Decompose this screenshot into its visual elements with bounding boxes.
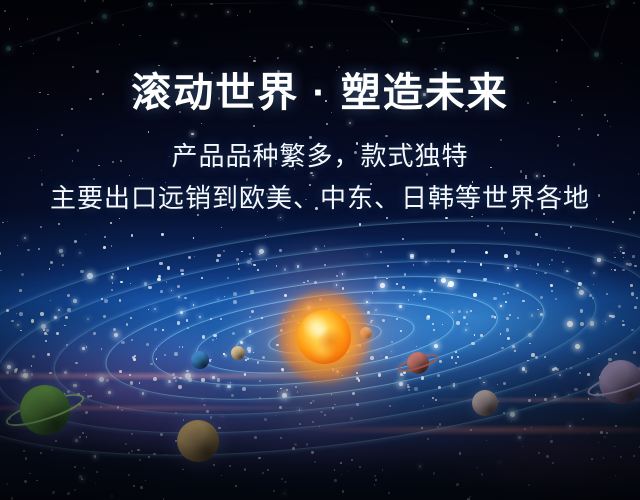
star bbox=[183, 419, 184, 420]
star bbox=[64, 325, 66, 327]
star bbox=[441, 48, 442, 49]
star bbox=[419, 290, 421, 292]
star bbox=[579, 372, 581, 374]
star bbox=[494, 317, 496, 319]
star bbox=[540, 313, 544, 317]
star bbox=[50, 300, 51, 301]
star bbox=[634, 390, 635, 391]
star bbox=[112, 273, 114, 275]
star bbox=[178, 296, 180, 298]
star bbox=[604, 436, 606, 438]
star bbox=[111, 289, 113, 291]
star bbox=[21, 374, 25, 378]
star bbox=[596, 393, 599, 396]
star bbox=[507, 337, 510, 340]
constellation-node bbox=[148, 2, 153, 7]
star bbox=[487, 225, 488, 226]
star bbox=[423, 405, 425, 407]
star bbox=[374, 484, 376, 486]
star bbox=[217, 254, 221, 258]
star bbox=[43, 389, 46, 392]
star bbox=[159, 262, 163, 266]
star bbox=[544, 272, 547, 275]
star bbox=[73, 299, 77, 303]
star bbox=[47, 353, 50, 356]
star bbox=[551, 290, 553, 292]
constellation-line bbox=[8, 15, 104, 48]
star bbox=[504, 232, 506, 234]
star bbox=[67, 390, 70, 393]
star bbox=[347, 471, 348, 472]
star bbox=[516, 57, 518, 59]
star bbox=[44, 332, 47, 335]
star bbox=[555, 298, 557, 300]
star bbox=[154, 308, 156, 310]
star bbox=[193, 304, 195, 306]
star bbox=[608, 362, 610, 364]
star bbox=[40, 312, 44, 316]
star bbox=[126, 323, 129, 326]
star bbox=[603, 457, 604, 458]
star bbox=[561, 39, 563, 41]
star bbox=[511, 421, 512, 422]
star bbox=[486, 440, 488, 442]
star bbox=[434, 279, 437, 282]
star bbox=[184, 297, 187, 300]
star bbox=[592, 297, 593, 298]
star bbox=[175, 440, 176, 441]
star bbox=[83, 467, 85, 469]
star bbox=[481, 7, 484, 10]
star bbox=[419, 465, 421, 467]
star bbox=[202, 335, 205, 338]
star bbox=[562, 261, 564, 263]
star bbox=[620, 247, 622, 249]
star bbox=[615, 353, 618, 356]
star bbox=[265, 235, 266, 236]
star bbox=[427, 438, 429, 440]
star bbox=[417, 29, 420, 32]
star bbox=[636, 297, 638, 299]
star bbox=[9, 48, 11, 50]
star bbox=[87, 273, 93, 279]
star bbox=[606, 432, 608, 434]
star bbox=[111, 276, 114, 279]
star bbox=[43, 329, 45, 331]
star bbox=[499, 462, 500, 463]
star bbox=[554, 396, 556, 398]
star bbox=[577, 287, 579, 289]
star bbox=[82, 347, 85, 350]
star bbox=[158, 275, 161, 278]
star bbox=[578, 282, 582, 286]
star bbox=[570, 226, 572, 228]
star bbox=[611, 315, 615, 319]
star bbox=[33, 53, 35, 55]
star bbox=[622, 320, 624, 322]
star bbox=[56, 332, 59, 335]
star bbox=[120, 281, 123, 284]
star bbox=[544, 356, 545, 357]
star bbox=[91, 22, 94, 25]
star bbox=[310, 46, 313, 49]
star bbox=[66, 344, 68, 346]
star bbox=[299, 50, 301, 52]
star bbox=[284, 493, 286, 495]
star bbox=[254, 57, 256, 59]
star bbox=[580, 322, 584, 326]
star bbox=[40, 226, 42, 228]
star bbox=[19, 312, 23, 316]
star bbox=[111, 245, 113, 247]
star bbox=[434, 344, 438, 348]
star bbox=[177, 285, 180, 288]
star bbox=[67, 308, 71, 312]
star bbox=[210, 416, 212, 418]
star bbox=[96, 471, 98, 473]
star bbox=[133, 485, 135, 487]
star bbox=[33, 393, 35, 395]
star bbox=[503, 293, 505, 295]
star bbox=[483, 382, 485, 384]
star bbox=[67, 294, 70, 297]
star bbox=[61, 254, 64, 257]
star bbox=[294, 443, 297, 446]
star bbox=[457, 269, 461, 273]
star bbox=[413, 264, 415, 266]
star bbox=[59, 249, 62, 252]
star bbox=[160, 290, 163, 293]
constellation-line bbox=[404, 28, 516, 41]
star bbox=[531, 314, 534, 317]
star bbox=[17, 245, 18, 246]
star bbox=[16, 313, 17, 314]
star bbox=[0, 270, 2, 272]
star bbox=[194, 256, 195, 257]
star bbox=[551, 259, 554, 262]
star bbox=[620, 456, 622, 458]
purple-ringed-planet-ring bbox=[585, 363, 640, 402]
star bbox=[280, 437, 281, 438]
star bbox=[606, 293, 608, 295]
star bbox=[146, 343, 149, 346]
star bbox=[452, 312, 453, 313]
star bbox=[188, 378, 191, 381]
star bbox=[457, 356, 459, 358]
star bbox=[605, 321, 606, 322]
star bbox=[482, 404, 487, 409]
star bbox=[182, 346, 183, 347]
star bbox=[32, 355, 36, 359]
star bbox=[180, 269, 184, 273]
star bbox=[614, 252, 615, 253]
star bbox=[85, 374, 87, 376]
star bbox=[609, 315, 611, 317]
star bbox=[262, 472, 263, 473]
star bbox=[314, 461, 316, 463]
star bbox=[626, 263, 628, 265]
star bbox=[58, 309, 61, 312]
star bbox=[516, 251, 520, 255]
star bbox=[217, 299, 218, 300]
star bbox=[574, 388, 577, 391]
star bbox=[144, 282, 148, 286]
star bbox=[447, 260, 449, 262]
star bbox=[497, 384, 498, 385]
star bbox=[197, 444, 200, 447]
star bbox=[589, 294, 593, 298]
constellation-line bbox=[8, 16, 104, 49]
star bbox=[24, 480, 27, 483]
star bbox=[102, 0, 104, 2]
star bbox=[62, 264, 64, 266]
star bbox=[27, 18, 28, 19]
star bbox=[510, 412, 515, 417]
star bbox=[531, 353, 535, 357]
constellation-node bbox=[102, 14, 107, 19]
star bbox=[599, 376, 602, 379]
star bbox=[193, 237, 194, 238]
star bbox=[473, 293, 477, 297]
star bbox=[437, 374, 440, 377]
star bbox=[153, 453, 156, 456]
star bbox=[249, 253, 251, 255]
star bbox=[113, 328, 116, 331]
star bbox=[509, 314, 511, 316]
star bbox=[516, 284, 520, 288]
star bbox=[17, 324, 19, 326]
star bbox=[516, 250, 518, 252]
star bbox=[249, 56, 251, 58]
star bbox=[222, 416, 223, 417]
star bbox=[201, 378, 204, 381]
star bbox=[36, 480, 38, 482]
star bbox=[518, 436, 520, 438]
star bbox=[32, 40, 33, 41]
star bbox=[623, 400, 625, 402]
star bbox=[7, 365, 11, 369]
star bbox=[341, 474, 342, 475]
star bbox=[104, 299, 108, 303]
star bbox=[58, 223, 60, 225]
star bbox=[130, 317, 132, 319]
star bbox=[148, 456, 150, 458]
constellation-line bbox=[596, 2, 613, 54]
star bbox=[145, 480, 146, 481]
constellation-line bbox=[371, 8, 404, 41]
star bbox=[160, 433, 163, 436]
star bbox=[131, 433, 132, 434]
star bbox=[38, 248, 40, 250]
star bbox=[58, 37, 60, 39]
star bbox=[590, 321, 594, 325]
constellation-node bbox=[610, 0, 615, 5]
star bbox=[114, 333, 118, 337]
star bbox=[512, 345, 515, 348]
star bbox=[6, 483, 8, 485]
star bbox=[21, 273, 24, 276]
star bbox=[162, 329, 164, 331]
star bbox=[463, 12, 465, 14]
green-ringed-planet-ring-front bbox=[3, 388, 87, 432]
star bbox=[470, 310, 472, 312]
star bbox=[442, 42, 444, 44]
constellation-line bbox=[559, 10, 596, 55]
star bbox=[504, 254, 508, 258]
star bbox=[593, 272, 594, 273]
star bbox=[273, 490, 275, 492]
star bbox=[119, 370, 123, 374]
star bbox=[74, 489, 75, 490]
star bbox=[637, 391, 639, 393]
star bbox=[388, 492, 390, 494]
star bbox=[536, 273, 538, 275]
star bbox=[516, 269, 517, 270]
star bbox=[139, 35, 141, 37]
star bbox=[402, 238, 404, 240]
star bbox=[206, 410, 209, 413]
star bbox=[587, 433, 588, 434]
star bbox=[566, 270, 568, 272]
star bbox=[79, 475, 82, 478]
star bbox=[618, 305, 621, 308]
constellation-node bbox=[468, 0, 473, 5]
star bbox=[223, 250, 224, 251]
star bbox=[567, 271, 569, 273]
earth-planet bbox=[191, 351, 209, 369]
star bbox=[334, 469, 336, 471]
star bbox=[179, 346, 180, 347]
star bbox=[140, 486, 143, 489]
star bbox=[556, 49, 558, 51]
star bbox=[455, 351, 457, 353]
star bbox=[469, 496, 471, 498]
star bbox=[216, 384, 220, 388]
constellation-node bbox=[402, 38, 407, 43]
star bbox=[634, 265, 636, 267]
star bbox=[31, 319, 34, 322]
star bbox=[101, 348, 102, 349]
constellation-node bbox=[298, 0, 303, 5]
star bbox=[213, 334, 216, 337]
star bbox=[479, 377, 481, 379]
star bbox=[74, 466, 76, 468]
star bbox=[106, 379, 109, 382]
star bbox=[9, 417, 11, 419]
constellation-line bbox=[300, 2, 516, 29]
banner-subline-2: 主要出口远销到欧美、中东、日韩等世界各地 bbox=[0, 178, 640, 220]
constellation-line bbox=[150, 2, 300, 5]
star bbox=[128, 474, 130, 476]
star bbox=[338, 66, 340, 68]
star bbox=[119, 299, 122, 302]
star bbox=[525, 370, 527, 372]
star bbox=[598, 442, 599, 443]
star bbox=[224, 296, 225, 297]
star bbox=[90, 395, 92, 397]
star bbox=[166, 454, 167, 455]
purple-ringed-planet-ring-front bbox=[585, 363, 640, 402]
star bbox=[238, 268, 240, 270]
star bbox=[131, 450, 133, 452]
star bbox=[633, 351, 636, 354]
star bbox=[465, 329, 467, 331]
star bbox=[633, 2, 635, 4]
star bbox=[491, 315, 494, 318]
star bbox=[87, 318, 89, 320]
star bbox=[498, 401, 499, 402]
star bbox=[150, 363, 152, 365]
star bbox=[610, 367, 612, 369]
star bbox=[559, 374, 561, 376]
star bbox=[474, 334, 476, 336]
star bbox=[40, 452, 42, 454]
star bbox=[218, 427, 221, 430]
star bbox=[623, 257, 625, 259]
purple-ringed-planet bbox=[599, 360, 640, 404]
star bbox=[73, 384, 76, 387]
star bbox=[455, 362, 457, 364]
star bbox=[104, 236, 105, 237]
star bbox=[253, 60, 256, 63]
star bbox=[83, 391, 84, 392]
star bbox=[132, 356, 135, 359]
star bbox=[212, 339, 214, 341]
star bbox=[267, 469, 269, 471]
star bbox=[54, 316, 57, 319]
star bbox=[500, 305, 502, 307]
star bbox=[131, 339, 132, 340]
star bbox=[94, 455, 97, 458]
star bbox=[199, 316, 201, 318]
star bbox=[9, 28, 10, 29]
star bbox=[23, 450, 25, 452]
star bbox=[431, 289, 433, 291]
star bbox=[453, 383, 455, 385]
star bbox=[195, 15, 197, 17]
star bbox=[49, 268, 51, 270]
star bbox=[186, 319, 188, 321]
star bbox=[593, 284, 594, 285]
star bbox=[210, 318, 212, 320]
star bbox=[122, 24, 124, 26]
star bbox=[540, 236, 542, 238]
banner-headline: 滚动世界 · 塑造未来 bbox=[0, 70, 640, 116]
star bbox=[74, 240, 77, 243]
star bbox=[506, 317, 508, 319]
star bbox=[156, 358, 157, 359]
star bbox=[501, 227, 503, 229]
star bbox=[437, 426, 439, 428]
star bbox=[522, 367, 526, 371]
star bbox=[128, 452, 130, 454]
star bbox=[103, 246, 105, 248]
banner-text-block: 滚动世界 · 塑造未来 产品品种繁多，款式独特 主要出口远销到欧美、中东、日韩等… bbox=[0, 70, 640, 219]
star bbox=[609, 385, 611, 387]
star bbox=[628, 263, 631, 266]
star bbox=[64, 393, 65, 394]
star bbox=[514, 264, 518, 268]
star bbox=[306, 443, 309, 446]
star bbox=[481, 473, 483, 475]
star bbox=[172, 373, 175, 376]
star bbox=[175, 412, 177, 414]
star bbox=[311, 451, 313, 453]
star bbox=[238, 263, 239, 264]
star bbox=[597, 258, 600, 261]
constellation-line bbox=[470, 2, 560, 11]
star bbox=[80, 270, 84, 274]
